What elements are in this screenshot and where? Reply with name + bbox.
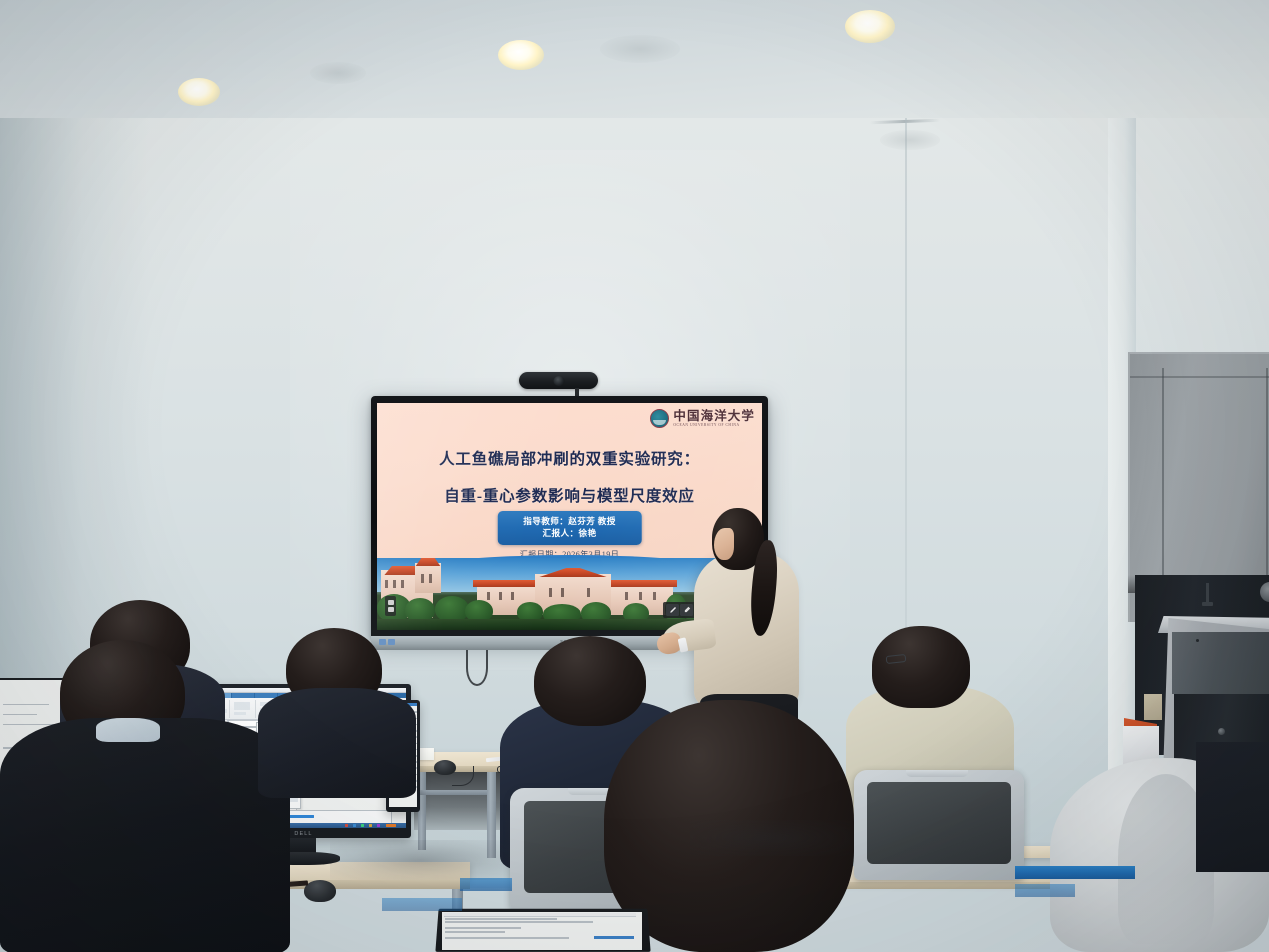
photo-window: [561, 588, 564, 597]
presenter-face: [714, 528, 734, 560]
presenter-floor-shadow: [690, 820, 850, 856]
ouc-seal-icon: [650, 409, 669, 428]
photo-window: [653, 592, 656, 600]
ceiling-stain: [310, 62, 366, 84]
cabinet-top-rail: [1130, 376, 1269, 378]
shirt-collar: [96, 718, 160, 742]
wall-stain: [880, 130, 940, 150]
video-conference-camera: [519, 372, 598, 389]
photo-window: [401, 580, 404, 588]
report-document-window: [442, 912, 642, 950]
audience-dark-shoulder-right: [1196, 742, 1269, 872]
classroom-scene: 中国海洋大学 OCEAN UNIVERSITY OF CHINA 人工鱼礁局部冲…: [0, 0, 1269, 952]
logo-name-en: OCEAN UNIVERSITY OF CHINA: [673, 424, 755, 428]
display-cable: [466, 650, 488, 686]
ceiling: [0, 0, 1269, 126]
photo-window: [639, 592, 642, 600]
logo-name-cn: 中国海洋大学: [673, 410, 755, 423]
cabinet-door-seam: [1162, 368, 1164, 608]
desk-rail: [418, 790, 488, 795]
audience-head-center: [534, 636, 646, 726]
monitor-brand-label: DELL: [294, 831, 312, 837]
photo-window: [625, 592, 628, 600]
photo-window: [385, 580, 388, 588]
pen-icon[interactable]: [666, 604, 679, 616]
computer-mouse[interactable]: [304, 880, 336, 902]
baseboard-left: [382, 898, 462, 911]
cabinet-door-seam: [1266, 368, 1268, 608]
photo-window: [421, 574, 424, 583]
slide-presenter: 汇报人：徐艳: [523, 527, 616, 539]
slide-title-line2: 自重-重心参数影响与模型尺度效应: [377, 484, 762, 506]
ceiling-downlight-icon: [845, 10, 895, 43]
display-control-buttons[interactable]: [379, 639, 395, 645]
audience-head-right: [872, 626, 970, 708]
photo-window: [487, 592, 490, 600]
slide-advisor: 指导教师：赵芬芳 教授: [523, 515, 616, 527]
laptop-window-title-bar: [444, 913, 636, 917]
photo-tower-left: [415, 563, 441, 593]
ceiling-stain: [600, 35, 680, 63]
chair-right[interactable]: [854, 770, 1024, 880]
audience-body-left-front: [0, 718, 290, 952]
photo-window: [587, 588, 590, 597]
podium-screw: [1196, 639, 1199, 642]
podium-lock-knob-icon[interactable]: [1218, 728, 1225, 735]
slide-title-line1: 人工鱼礁局部冲刷的双重实验研究：: [377, 447, 762, 469]
photo-window: [499, 592, 502, 600]
ceiling-downlight-icon: [498, 40, 544, 70]
highlighter-icon[interactable]: [680, 604, 693, 616]
slide-author-badge: 指导教师：赵芬芳 教授 汇报人：徐艳: [497, 511, 642, 545]
podium-upper-body: [1172, 632, 1269, 694]
ceiling-downlight-icon: [178, 78, 220, 106]
photo-window: [549, 588, 552, 597]
photo-window: [429, 574, 432, 583]
university-logo: 中国海洋大学 OCEAN UNIVERSITY OF CHINA: [650, 409, 755, 428]
ppt-slide-thumbnail-button[interactable]: [385, 596, 396, 616]
laptop-screen[interactable]: [442, 912, 642, 950]
desk-floor-shadow: [330, 840, 510, 880]
photo-window: [393, 580, 396, 588]
baseboard-right-shadow: [1015, 884, 1075, 897]
baseboard-right: [1015, 866, 1135, 879]
chair-handle: [906, 770, 968, 777]
photo-window: [511, 592, 514, 600]
slide-title: 人工鱼礁局部冲刷的双重实验研究： 自重-重心参数影响与模型尺度效应: [377, 447, 762, 506]
wall-hook-icon: [1206, 583, 1209, 606]
camera-lens-icon: [553, 376, 564, 386]
beige-box: [1144, 694, 1162, 720]
chair-mesh-back: [867, 782, 1011, 864]
audience-body-center-left: [258, 688, 416, 798]
